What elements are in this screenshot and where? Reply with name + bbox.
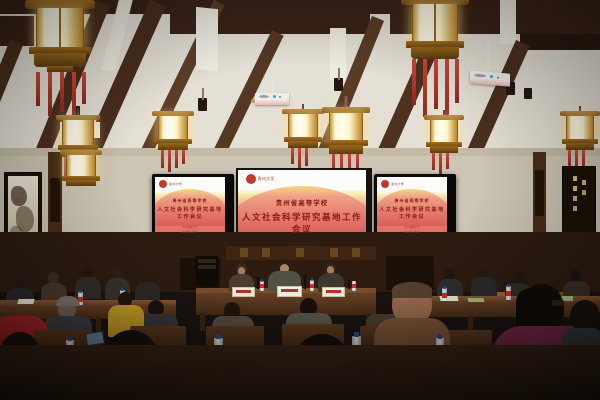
eyeglasses bbox=[552, 300, 564, 306]
head-table-leg-1 bbox=[200, 313, 205, 331]
slide-center: 贵州大学 贵州省高等学校 人文社会科学研究基地工作会议 贵州省教育厅 2016年… bbox=[238, 170, 366, 244]
ceiling-speaker-4 bbox=[524, 88, 532, 99]
document-right-2 bbox=[468, 298, 485, 302]
slide-text-right: 贵州省高等学校 人文社会科学研究基地工作会议 贵州省教育厅 2016年1月8日 bbox=[377, 198, 447, 233]
slide-logo-left: 贵州大学 bbox=[159, 180, 182, 188]
university-logo-icon bbox=[381, 180, 389, 188]
name-placard-3 bbox=[322, 287, 345, 297]
ceiling-batten-2 bbox=[500, 0, 516, 44]
microphone-3 bbox=[348, 279, 350, 289]
floor bbox=[0, 345, 600, 400]
wall-post-right-inset bbox=[535, 170, 544, 216]
display-left[interactable]: 贵州大学 贵州省高等学校 人文社会科学研究基地工作会议 贵州省教育厅 2016年… bbox=[152, 174, 234, 242]
conference-hall-photo: 贵州大学 贵州省高等学校 人文社会科学研究基地工作会议 贵州省教育厅 2016年… bbox=[0, 0, 600, 400]
water-bottle-head-2 bbox=[310, 280, 314, 291]
water-bottle-right-1 bbox=[442, 288, 447, 301]
microphone-head-2 bbox=[303, 275, 307, 278]
slide-logo-center: 贵州大学 bbox=[246, 174, 275, 184]
microphone-head-1 bbox=[256, 277, 260, 280]
lantern-mid-2 bbox=[148, 106, 198, 176]
microphone-2 bbox=[304, 277, 306, 289]
lintel-carving-5 bbox=[352, 248, 360, 257]
slide-logo-right: 贵州大学 bbox=[381, 180, 404, 188]
slide-text-left: 贵州省高等学校 人文社会科学研究基地工作会议 贵州省教育厅 2016年1月8日 bbox=[155, 198, 225, 233]
lintel-carving-2 bbox=[262, 248, 270, 257]
university-logo-icon bbox=[159, 180, 167, 188]
projector-pole-1 bbox=[272, 80, 274, 94]
university-logo-icon bbox=[246, 174, 256, 184]
water-bottle-head-3 bbox=[352, 281, 356, 291]
water-bottle-right-2 bbox=[506, 286, 511, 300]
lintel-carving-4 bbox=[330, 248, 338, 257]
name-placard-1 bbox=[232, 287, 255, 297]
microphone-1 bbox=[257, 279, 259, 289]
av-rack bbox=[196, 256, 218, 286]
lantern-large-left bbox=[22, 0, 98, 124]
lantern-mid-5 bbox=[420, 110, 468, 180]
slide-text-center: 贵州省高等学校 人文社会科学研究基地工作会议 贵州省教育厅 2016年1月8日 bbox=[238, 197, 366, 244]
lintel-carving-1 bbox=[240, 248, 248, 257]
slide-right: 贵州大学 贵州省高等学校 人文社会科学研究基地工作会议 贵州省教育厅 2016年… bbox=[377, 177, 447, 233]
ceiling-speaker-stem-2 bbox=[338, 68, 340, 80]
slide-left: 贵州大学 贵州省高等学校 人文社会科学研究基地工作会议 贵州省教育厅 2016年… bbox=[155, 177, 225, 233]
lintel-carving-3 bbox=[296, 248, 304, 257]
tablet-device[interactable] bbox=[85, 331, 105, 346]
name-placard-2 bbox=[277, 286, 302, 297]
flat-cap bbox=[56, 296, 80, 306]
ceiling-drop-panel-1 bbox=[196, 7, 218, 71]
ceiling-beam-h3 bbox=[520, 34, 600, 50]
projector-lens-1 bbox=[251, 99, 255, 103]
ceiling-speaker-stem-1 bbox=[202, 88, 204, 100]
document-left-1 bbox=[17, 299, 34, 304]
projector-pole-2 bbox=[487, 40, 490, 72]
display-right[interactable]: 贵州大学 贵州省高等学校 人文社会科学研究基地工作会议 贵州省教育厅 2016年… bbox=[374, 174, 456, 242]
lantern-low-left bbox=[56, 150, 106, 210]
projection-screen-center[interactable]: 贵州大学 贵州省高等学校 人文社会科学研究基地工作会议 贵州省教育厅 2016年… bbox=[236, 168, 372, 250]
water-bottle-head-1 bbox=[260, 281, 264, 291]
